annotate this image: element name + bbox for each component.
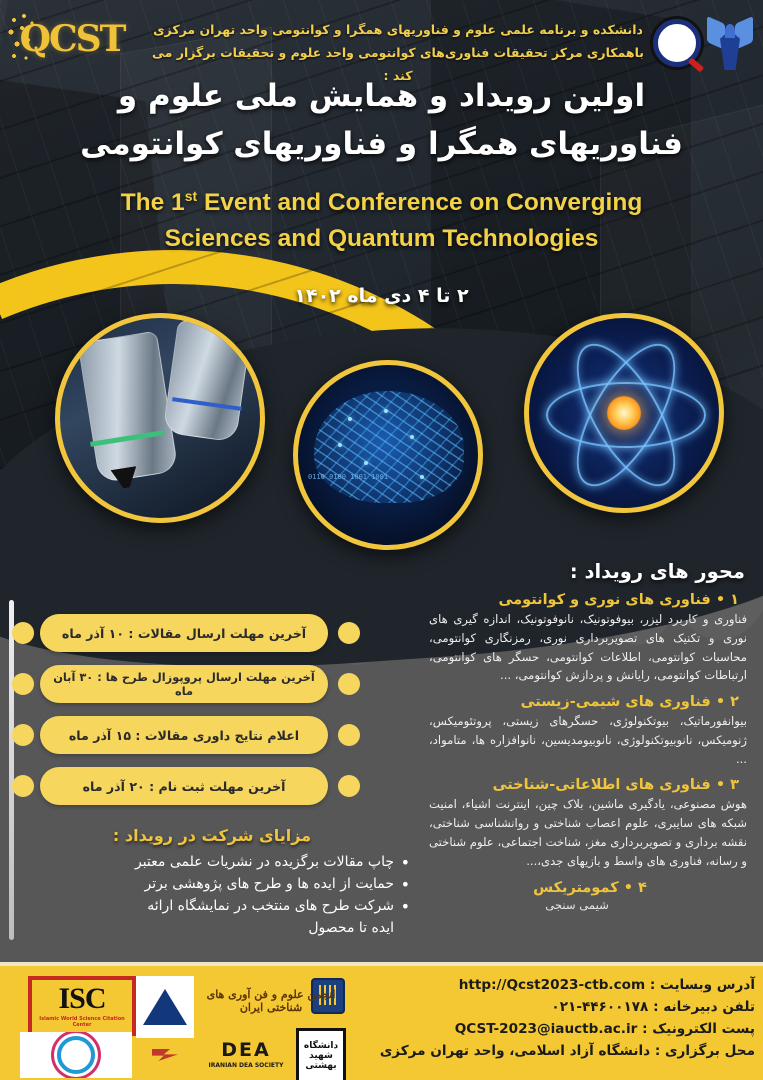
venue-value: دانشگاه آزاد اسلامی، واحد تهران مرکزی [380, 1043, 650, 1059]
english-title-prefix: The 1 [121, 189, 185, 216]
topic-title: ۴ • کمومتریکس [441, 880, 739, 896]
topic-number: ۳ [730, 777, 739, 793]
digital-brain-image-circle: 0110 0100 1001 1001 [293, 360, 483, 550]
pill-knob-left [12, 673, 34, 695]
circle-emblem-icon [57, 1036, 95, 1074]
pill-knob-right [338, 673, 360, 695]
lightning-bolt-icon [152, 1049, 178, 1061]
topic-number: ۲ [730, 694, 739, 710]
deadline-pill: اعلام نتایج داوری مقالات : ۱۵ آذر ماه [40, 716, 328, 754]
topic-title: ۲ • فناوری های شیمی-زیستی [415, 694, 739, 710]
topic-item: ۲ • فناوری های شیمی-زیستی بیوانفورماتیک،… [415, 694, 755, 768]
email-value[interactable]: QCST-2023@iauctb.ac.ir [455, 1018, 638, 1040]
sponsor-logo-isc: ISC Islamic World Science Citation Cente… [28, 976, 136, 1036]
topic-title-text: فناوری های نوری و کوانتومی [498, 592, 710, 608]
deadlines-section: آخرین مهلت ارسال مقالات : ۱۰ آذر ماه آخر… [0, 612, 410, 816]
circuit-node [338, 443, 342, 447]
dea-logo-text: DEA [221, 1039, 270, 1061]
topic-item: ۴ • کمومتریکس شیمی سنجی [415, 880, 755, 912]
topic-title: ۱ • فناوری های نوری و کوانتومی [415, 592, 739, 608]
pill-knob-left [12, 622, 34, 644]
persian-title: اولین رویداد و همایش ملی علوم و فناوریها… [0, 72, 763, 168]
pill-knob-right [338, 775, 360, 797]
conference-poster: QCST دانشکده و برنامه علمی علوم و فناوری… [0, 0, 763, 1080]
dea-logo-caption: IRANIAN DEA SOCIETY [209, 1062, 284, 1069]
english-title-line-2: Sciences and Quantum Technologies [0, 221, 763, 257]
website-value[interactable]: http://Qcst2023-ctb.com [459, 974, 645, 996]
topic-item: ۳ • فناوری های اطلاعاتی-شناختی هوش مصنوع… [415, 777, 755, 870]
topic-item: ۱ • فناوری های نوری و کوانتومی فناوری و … [415, 592, 755, 685]
pill-knob-right [338, 724, 360, 746]
phone-label: تلفن دبیرخانه : [653, 999, 755, 1015]
venue-row: محل برگزاری : دانشگاه آزاد اسلامی، واحد … [345, 1040, 755, 1062]
english-title-line-1: The 1st Event and Conference on Convergi… [0, 185, 763, 221]
pill-knob-left [12, 775, 34, 797]
sponsor-logo-shahid-beheshti: دانشگاه شهید بهشتی [296, 1028, 346, 1080]
topic-number: ۱ [730, 592, 739, 608]
deadline-pill: آخرین مهلت ارسال پروپوزال طرح ها : ۳۰ آب… [40, 665, 328, 703]
topic-body: فناوری و کاربرد لیزر، بیوفوتونیک، نانوفو… [429, 610, 747, 685]
circuit-node [348, 417, 352, 421]
circuit-node [420, 475, 424, 479]
deadline-row: اعلام نتایج داوری مقالات : ۱۵ آذر ماه [0, 714, 410, 759]
email-row: پست الکترونیک : QCST-2023@iauctb.ac.ir [345, 1018, 755, 1040]
footer-bar: آدرس وبسایت : http://Qcst2023-ctb.com تل… [0, 962, 763, 1080]
topic-title-text: کمومتریکس [533, 880, 619, 896]
atom-image-circle [524, 313, 724, 513]
persian-title-line-2: فناوریهای همگرا و فناوریهای کوانتومی [0, 120, 763, 168]
email-label: پست الکترونیک : [642, 1021, 755, 1037]
persian-title-line-1: اولین رویداد و همایش ملی علوم و [0, 72, 763, 120]
topic-title-text: فناوری های شیمی-زیستی [521, 694, 711, 710]
topic-title: ۳ • فناوری های اطلاعاتی-شناختی [415, 777, 739, 793]
english-title: The 1st Event and Conference on Convergi… [0, 185, 763, 256]
microscope-image-circle [55, 313, 265, 523]
sponsor-logo-niroo [136, 1032, 194, 1078]
deadline-pill: آخرین مهلت ارسال مقالات : ۱۰ آذر ماه [40, 614, 328, 652]
venue-label: محل برگزاری : [655, 1043, 755, 1059]
pyramid-icon [143, 989, 187, 1025]
deadline-row: آخرین مهلت ثبت نام : ۲۰ آذر ماه [0, 765, 410, 810]
isc-logo-caption: Islamic World Science Citation Center [32, 1016, 132, 1028]
isc-logo-text: ISC [58, 982, 105, 1015]
sponsor-logo-dea: DEA IRANIAN DEA SOCIETY [196, 1032, 296, 1076]
benefit-item: حمایت از ایده ها و طرح های پژوهشی برتر [14, 873, 410, 895]
english-title-rest: Event and Conference on Converging [204, 189, 642, 216]
ordinal-suffix: st [185, 188, 197, 204]
pill-knob-left [12, 724, 34, 746]
brain-circuit-icon [314, 391, 464, 503]
circuit-node [364, 461, 368, 465]
qcst-logo: QCST [12, 8, 132, 70]
event-date: ۲ تا ۴ دی ماه ۱۴۰۲ [0, 285, 763, 307]
circuit-node [384, 409, 388, 413]
website-label: آدرس وبسایت : [650, 977, 755, 993]
benefit-item: چاپ مقالات برگزیده در نشریات علمی معتبر [14, 851, 410, 873]
website-row: آدرس وبسایت : http://Qcst2023-ctb.com [345, 974, 755, 996]
phone-row: تلفن دبیرخانه : ۰۲۱-۴۴۶۰۰۱۷۸ [345, 996, 755, 1018]
pixel-dissolve-icon [8, 14, 50, 64]
deadline-pill: آخرین مهلت ثبت نام : ۲۰ آذر ماه [40, 767, 328, 805]
benefits-section: مزایای شرکت در رویداد : چاپ مقالات برگزی… [0, 826, 410, 939]
topic-body: بیوانفورماتیک، بیوتکنولوژی، حسگرهای زیست… [429, 712, 747, 768]
topics-section: محور های رویداد : ۱ • فناوری های نوری و … [415, 560, 755, 912]
topics-heading: محور های رویداد : [415, 560, 745, 583]
microscope-objective-icon [77, 331, 178, 484]
pill-knob-right [338, 622, 360, 644]
deadline-row: آخرین مهلت ارسال مقالات : ۱۰ آذر ماه [0, 612, 410, 657]
benefit-continuation: ایده تا محصول [14, 917, 410, 939]
benefit-item: شرکت طرح های منتخب در نمایشگاه ارائه [14, 895, 410, 917]
topic-number: ۴ [638, 880, 647, 896]
sponsor-logo-cognitive-association: انجمن علوم و فن آوری های شناختی ایران [198, 978, 344, 1024]
benefits-heading: مزایای شرکت در رویداد : [14, 826, 410, 845]
shahid-logo-text: دانشگاه شهید بهشتی [299, 1041, 343, 1071]
topic-title-text: فناوری های اطلاعاتی-شناختی [493, 777, 711, 793]
sponsor-logo-pyramid [136, 976, 194, 1038]
phone-value: ۰۲۱-۴۴۶۰۰۱۷۸ [551, 996, 648, 1018]
atom-nucleus-icon [607, 396, 641, 430]
topic-body: شیمی سنجی [415, 898, 739, 912]
benefits-list: چاپ مقالات برگزیده در نشریات علمی معتبر … [14, 851, 410, 917]
sponsor-logos: ISC Islamic World Science Citation Cente… [6, 970, 336, 1080]
microscope-objective-icon [162, 319, 251, 442]
binary-bits-text: 0110 0100 1001 1001 [308, 473, 388, 482]
organizer-line-1: دانشکده و برنامه علمی علوم و فناوریهای ه… [143, 18, 653, 41]
contact-info: آدرس وبسایت : http://Qcst2023-ctb.com تل… [345, 974, 755, 1062]
quantum-research-center-logo [650, 16, 704, 70]
sponsor-logo-circle [20, 1032, 132, 1078]
topic-body: هوش مصنوعی، یادگیری ماشین، بلاک چین، این… [429, 795, 747, 870]
circuit-node [410, 435, 414, 439]
azad-cap-icon [725, 24, 735, 38]
deadline-row: آخرین مهلت ارسال پروپوزال طرح ها : ۳۰ آب… [0, 663, 410, 708]
